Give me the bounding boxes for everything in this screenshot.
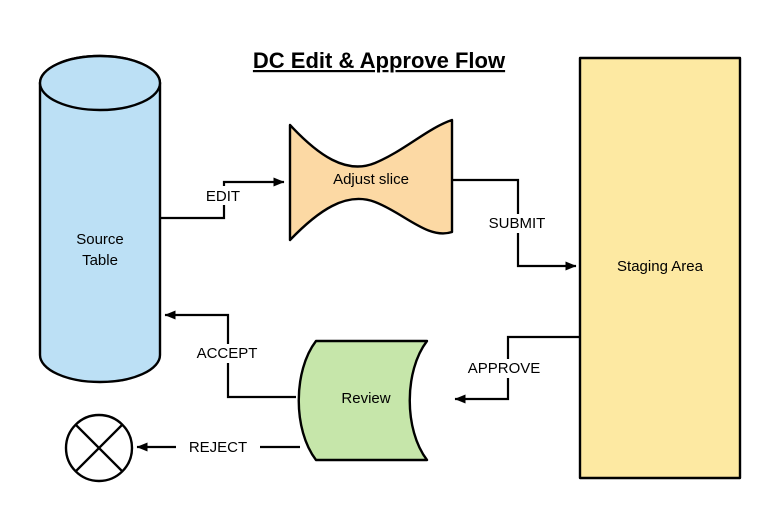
diagram-canvas: DC Edit & Approve Flow Source Table Adju… — [0, 0, 780, 520]
edge-reject-label: REJECT — [189, 439, 247, 456]
diagram-title: DC Edit & Approve Flow — [253, 48, 506, 73]
flow-diagram: DC Edit & Approve Flow Source Table Adju… — [0, 0, 780, 520]
node-reject-terminator[interactable] — [66, 415, 132, 481]
adjust-slice-label: Adjust slice — [333, 171, 409, 188]
edge-accept-label: ACCEPT — [197, 345, 258, 362]
staging-area-label: Staging Area — [617, 258, 704, 275]
node-review[interactable]: Review — [299, 341, 427, 460]
edge-accept[interactable]: ACCEPT — [165, 315, 296, 397]
edge-approve[interactable]: APPROVE — [455, 337, 580, 399]
source-table-top — [40, 56, 160, 110]
edge-submit-label: SUBMIT — [489, 215, 546, 232]
edge-edit-label: EDIT — [206, 188, 240, 205]
review-label: Review — [341, 390, 390, 407]
edge-submit[interactable]: SUBMIT — [452, 180, 576, 266]
source-table-label-line2: Table — [82, 252, 118, 269]
node-staging-area[interactable]: Staging Area — [580, 58, 740, 478]
edge-reject[interactable]: REJECT — [137, 438, 300, 457]
edge-edit[interactable]: EDIT — [160, 182, 284, 218]
source-table-label-line1: Source — [76, 231, 124, 248]
edge-approve-label: APPROVE — [468, 360, 541, 377]
node-source-table[interactable]: Source Table — [40, 56, 160, 382]
node-adjust-slice[interactable]: Adjust slice — [290, 120, 452, 240]
